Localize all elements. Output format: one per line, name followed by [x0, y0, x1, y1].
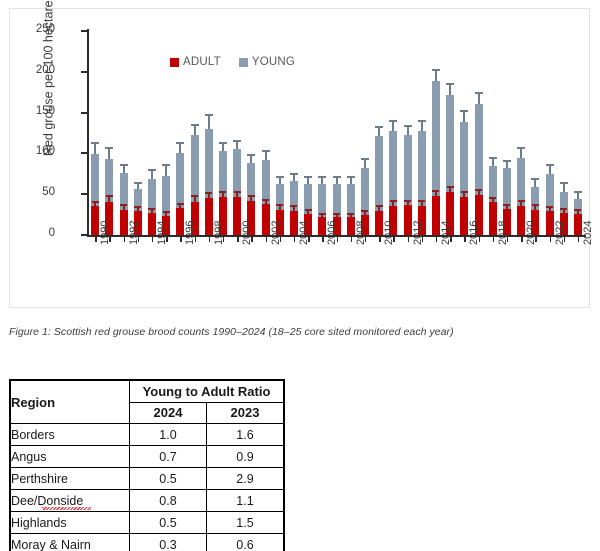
error-bar-total — [520, 149, 522, 158]
error-bar-adult — [364, 212, 366, 214]
error-bar-total — [350, 178, 352, 184]
error-bar-cap-adult — [532, 204, 539, 206]
error-bar-total — [435, 71, 437, 81]
error-bar-adult — [222, 193, 224, 197]
bar-segment-young — [375, 136, 383, 210]
y-tick — [81, 152, 88, 154]
bar-group — [105, 31, 113, 235]
error-bar-total — [336, 178, 338, 184]
error-bar-adult — [407, 202, 409, 205]
error-bar-cap-adult — [276, 204, 283, 206]
error-bar-total — [421, 122, 423, 130]
bar-segment-adult — [91, 206, 99, 235]
bar-segment-young — [361, 168, 369, 215]
error-bar-adult — [279, 206, 281, 209]
y-tick-label: 50 — [15, 187, 55, 199]
error-bar-cap-total — [276, 176, 284, 178]
y-tick — [81, 30, 88, 32]
y-tick-label: 0 — [15, 228, 55, 240]
x-tick — [251, 237, 253, 242]
error-bar-cap-adult — [134, 206, 141, 208]
bar-segment-young — [233, 149, 241, 197]
error-bar-adult — [250, 197, 252, 201]
x-tick — [578, 237, 580, 242]
cell-ratio-2024: 0.3 — [130, 534, 207, 551]
error-bar-cap-adult — [447, 186, 454, 188]
bar-group — [517, 31, 525, 235]
error-bar-adult — [336, 215, 338, 217]
x-tick — [95, 237, 97, 242]
error-bar-adult — [421, 202, 423, 205]
bar-segment-adult — [489, 202, 497, 235]
error-bar-adult — [194, 197, 196, 201]
bar-group — [176, 31, 184, 235]
x-tick — [237, 237, 239, 242]
bar-group — [475, 31, 483, 235]
bar-segment-adult — [432, 196, 440, 235]
error-bar-cap-total — [162, 164, 170, 166]
error-bar-cap-total — [247, 154, 255, 156]
bar-segment-adult — [574, 214, 582, 235]
error-bar-total — [407, 127, 409, 134]
error-bar-cap-total — [134, 182, 142, 184]
error-bar-total — [378, 128, 380, 136]
bar-group — [333, 31, 341, 235]
cell-ratio-2023: 0.6 — [207, 534, 285, 551]
x-tick — [138, 237, 140, 242]
x-tick — [308, 237, 310, 242]
x-axis-ticks: 1990199219941996199820002002200420062008… — [88, 237, 585, 307]
x-tick-label: 2024 — [582, 221, 594, 245]
y-tick-label: 100 — [15, 146, 55, 158]
bar-group — [304, 31, 312, 235]
error-bar-total — [137, 184, 139, 189]
error-bar-cap-total — [191, 124, 199, 126]
error-bar-total — [449, 85, 451, 96]
bar-group — [574, 31, 582, 235]
error-bar-total — [321, 178, 323, 184]
x-tick — [223, 237, 225, 242]
error-bar-cap-adult — [248, 195, 255, 197]
error-bar-adult — [236, 193, 238, 197]
cell-region: Angus — [10, 446, 130, 468]
error-bar-cap-adult — [376, 205, 383, 207]
bar-group — [191, 31, 199, 235]
error-bar-adult — [563, 210, 565, 213]
error-bar-cap-adult — [404, 200, 411, 202]
table-row: Dee/Donside0.81.1 — [10, 490, 284, 512]
bar-segment-young — [446, 95, 454, 191]
error-bar-cap-total — [205, 114, 213, 116]
error-bar-cap-adult — [106, 195, 113, 197]
error-bar-cap-total — [233, 140, 241, 142]
error-bar-cap-adult — [546, 206, 553, 208]
bar-group — [503, 31, 511, 235]
header-year-2023: 2023 — [207, 402, 285, 424]
error-bar-total — [492, 159, 494, 166]
bar-segment-young — [418, 131, 426, 206]
error-bar-cap-total — [560, 182, 568, 184]
error-bar-cap-total — [375, 126, 383, 128]
bar-segment-adult — [347, 217, 355, 235]
error-bar-total — [94, 144, 96, 154]
bar-segment-adult — [148, 213, 156, 235]
x-tick — [195, 237, 197, 242]
cell-ratio-2023: 2.9 — [207, 468, 285, 490]
bar-segment-young — [176, 153, 184, 208]
bar-segment-adult — [546, 211, 554, 235]
cell-ratio-2023: 1.5 — [207, 512, 285, 534]
error-bar-total — [179, 144, 181, 153]
error-bar-total — [165, 166, 167, 177]
bar-group — [262, 31, 270, 235]
bar-segment-young — [205, 129, 213, 198]
error-bar-cap-adult — [177, 203, 184, 205]
error-bar-cap-total — [418, 120, 426, 122]
error-bar-adult — [378, 207, 380, 210]
bar-segment-young — [91, 154, 99, 206]
bar-group — [531, 31, 539, 235]
error-bar-adult — [435, 192, 437, 196]
bar-group — [404, 31, 412, 235]
bar-group — [489, 31, 497, 235]
error-bar-cap-adult — [333, 213, 340, 215]
bar-segment-adult — [120, 210, 128, 235]
error-bar-cap-adult — [191, 195, 198, 197]
bar-segment-young — [404, 135, 412, 205]
bar-group — [276, 31, 284, 235]
error-bar-cap-total — [489, 157, 497, 159]
error-bar-cap-adult — [361, 210, 368, 212]
bar-segment-adult — [262, 204, 270, 235]
bar-group — [205, 31, 213, 235]
error-bar-adult — [478, 191, 480, 195]
bar-segment-young — [460, 122, 468, 198]
y-tick-label: 150 — [15, 106, 55, 118]
table-body: Borders1.01.6Angus0.70.9Perthshire0.52.9… — [10, 424, 284, 551]
error-bar-cap-adult — [560, 208, 567, 210]
x-tick — [266, 237, 268, 242]
error-bar-cap-adult — [489, 197, 496, 199]
bar-segment-adult — [375, 211, 383, 235]
bar-group — [233, 31, 241, 235]
cell-region: Dee/Donside — [10, 490, 130, 512]
error-bar-cap-total — [262, 150, 270, 152]
error-bar-adult — [208, 194, 210, 198]
error-bar-adult — [549, 208, 551, 211]
cell-ratio-2023: 1.1 — [207, 490, 285, 512]
cell-region: Moray & Nairn — [10, 534, 130, 551]
error-bar-total — [108, 149, 110, 159]
figure-caption: Figure 1: Scottish red grouse brood coun… — [9, 326, 589, 338]
error-bar-adult — [350, 215, 352, 217]
cell-ratio-2024: 1.0 — [130, 424, 207, 446]
error-bar-cap-adult — [475, 189, 482, 191]
table-row: Borders1.01.6 — [10, 424, 284, 446]
error-bar-adult — [506, 206, 508, 209]
bar-group — [460, 31, 468, 235]
bar-segment-young — [191, 135, 199, 201]
error-bar-adult — [492, 199, 494, 202]
error-bar-cap-adult — [148, 208, 155, 210]
table-header-row-1: Region Young to Adult Ratio — [10, 380, 284, 402]
error-bar-cap-total — [91, 142, 99, 144]
x-tick — [393, 237, 395, 242]
bar-group — [290, 31, 298, 235]
x-tick — [464, 237, 466, 242]
cell-region: Highlands — [10, 512, 130, 534]
error-bar-total — [123, 166, 125, 173]
error-bar-total — [265, 152, 267, 160]
y-tick — [81, 234, 88, 236]
error-bar-total — [293, 175, 295, 182]
bar-group — [219, 31, 227, 235]
bar-group — [247, 31, 255, 235]
plot-area — [88, 31, 585, 235]
x-tick — [209, 237, 211, 242]
cell-ratio-2024: 0.5 — [130, 468, 207, 490]
error-bar-adult — [137, 208, 139, 211]
cell-region: Perthshire — [10, 468, 130, 490]
figure-page: Red grouse per 100 hectares (+1s.e.) 050… — [0, 0, 600, 551]
x-tick — [180, 237, 182, 242]
error-bar-cap-adult — [574, 209, 581, 211]
error-bar-cap-total — [361, 158, 369, 160]
bar-group — [446, 31, 454, 235]
bar-segment-young — [475, 104, 483, 195]
error-bar-cap-total — [574, 191, 582, 193]
error-bar-total — [194, 126, 196, 136]
error-bar-total — [364, 160, 366, 168]
table-header: Region Young to Adult Ratio 2024 2023 — [10, 380, 284, 424]
error-bar-total — [392, 122, 394, 130]
x-tick — [450, 237, 452, 242]
error-bar-adult — [392, 202, 394, 205]
error-bar-cap-adult — [120, 204, 127, 206]
error-bar-cap-total — [404, 125, 412, 127]
error-bar-adult — [463, 193, 465, 197]
error-bar-cap-adult — [234, 191, 241, 193]
error-bar-total — [549, 166, 551, 173]
error-bar-adult — [165, 213, 167, 216]
error-bar-total — [506, 162, 508, 168]
error-bar-cap-total — [460, 110, 468, 112]
x-tick — [280, 237, 282, 242]
error-bar-adult — [123, 206, 125, 209]
x-tick — [109, 237, 111, 242]
ratio-table: Region Young to Adult Ratio 2024 2023 Bo… — [9, 379, 285, 551]
bar-group — [120, 31, 128, 235]
x-tick — [365, 237, 367, 242]
error-bar-adult — [94, 203, 96, 206]
x-tick — [379, 237, 381, 242]
error-bar-adult — [108, 197, 110, 201]
cell-region: Borders — [10, 424, 130, 446]
x-tick — [535, 237, 537, 242]
table-row: Angus0.70.9 — [10, 446, 284, 468]
error-bar-cap-total — [290, 173, 298, 175]
cell-ratio-2024: 0.7 — [130, 446, 207, 468]
x-tick — [124, 237, 126, 242]
error-bar-cap-adult — [503, 204, 510, 206]
error-bar-cap-adult — [305, 209, 312, 211]
bar-segment-adult — [404, 205, 412, 235]
error-bar-total — [534, 180, 536, 187]
bar-group — [91, 31, 99, 235]
x-tick — [564, 237, 566, 242]
error-bar-total — [478, 94, 480, 105]
bar-group — [560, 31, 568, 235]
y-tick-label: 200 — [15, 65, 55, 77]
error-bar-adult — [449, 188, 451, 192]
x-tick — [521, 237, 523, 242]
error-bar-cap-adult — [92, 201, 99, 203]
x-tick — [479, 237, 481, 242]
bar-segment-young — [389, 131, 397, 206]
error-bar-total — [236, 142, 238, 149]
bar-segment-young — [517, 158, 525, 205]
bar-group — [162, 31, 170, 235]
x-tick — [294, 237, 296, 242]
error-bar-adult — [520, 202, 522, 205]
error-bar-cap-total — [475, 92, 483, 94]
error-bar-total — [222, 144, 224, 151]
error-bar-total — [250, 156, 252, 163]
error-bar-cap-total — [219, 142, 227, 144]
error-bar-adult — [577, 211, 579, 214]
x-tick — [436, 237, 438, 242]
error-bar-cap-total — [531, 178, 539, 180]
bar-group — [432, 31, 440, 235]
cell-ratio-2024: 0.5 — [130, 512, 207, 534]
error-bar-cap-adult — [418, 200, 425, 202]
error-bar-cap-adult — [390, 200, 397, 202]
error-bar-adult — [179, 205, 181, 208]
error-bar-cap-adult — [461, 191, 468, 193]
y-tick — [81, 71, 88, 73]
error-bar-total — [208, 116, 210, 129]
error-bar-cap-adult — [205, 192, 212, 194]
error-bar-cap-total — [546, 164, 554, 166]
x-tick — [322, 237, 324, 242]
error-bar-cap-total — [105, 147, 113, 149]
error-bar-adult — [293, 207, 295, 210]
chart-container: Red grouse per 100 hectares (+1s.e.) 050… — [9, 8, 590, 308]
header-year-2024: 2024 — [130, 402, 207, 424]
error-bar-cap-adult — [290, 205, 297, 207]
error-bar-adult — [265, 201, 267, 204]
x-tick — [166, 237, 168, 242]
bar-group — [418, 31, 426, 235]
error-bar-total — [151, 171, 153, 178]
error-bar-cap-adult — [432, 190, 439, 192]
y-tick — [81, 112, 88, 114]
error-bar-total — [307, 178, 309, 184]
error-bar-cap-total — [389, 120, 397, 122]
error-bar-adult — [307, 211, 309, 213]
bar-segment-young — [262, 160, 270, 204]
y-tick-label: 250 — [15, 24, 55, 36]
error-bar-cap-total — [304, 176, 312, 178]
error-bar-cap-adult — [219, 191, 226, 193]
error-bar-cap-total — [432, 69, 440, 71]
bar-segment-adult — [290, 211, 298, 235]
table-row: Moray & Nairn0.30.6 — [10, 534, 284, 551]
bar-segment-adult — [205, 198, 213, 235]
bar-group — [546, 31, 554, 235]
x-tick — [550, 237, 552, 242]
error-bar-cap-adult — [347, 213, 354, 215]
error-bar-cap-adult — [319, 213, 326, 215]
error-bar-total — [463, 112, 465, 122]
header-region: Region — [10, 380, 130, 424]
x-tick — [408, 237, 410, 242]
x-tick — [337, 237, 339, 242]
table-row: Highlands0.51.5 — [10, 512, 284, 534]
bar-group — [318, 31, 326, 235]
y-tick — [81, 193, 88, 195]
error-bar-cap-total — [120, 164, 128, 166]
x-tick — [152, 237, 154, 242]
table-row: Perthshire0.52.9 — [10, 468, 284, 490]
bar-group — [389, 31, 397, 235]
error-bar-cap-adult — [262, 199, 269, 201]
x-tick — [351, 237, 353, 242]
header-ratio: Young to Adult Ratio — [130, 380, 285, 402]
error-bar-cap-total — [446, 83, 454, 85]
bar-group — [375, 31, 383, 235]
x-tick — [507, 237, 509, 242]
error-bar-cap-total — [318, 176, 326, 178]
bar-group — [134, 31, 142, 235]
error-bar-cap-total — [176, 142, 184, 144]
spellcheck-underline — [42, 507, 91, 510]
error-bar-total — [563, 184, 565, 191]
x-tick — [493, 237, 495, 242]
error-bar-cap-total — [503, 160, 511, 162]
error-bar-cap-total — [148, 169, 156, 171]
error-bar-adult — [321, 215, 323, 217]
x-tick — [422, 237, 424, 242]
bar-segment-young — [432, 81, 440, 196]
error-bar-adult — [534, 206, 536, 209]
cell-ratio-2023: 1.6 — [207, 424, 285, 446]
bar-segment-adult — [517, 206, 525, 235]
error-bar-cap-total — [333, 176, 341, 178]
error-bar-cap-total — [347, 176, 355, 178]
error-bar-adult — [151, 210, 153, 213]
error-bar-total — [577, 193, 579, 199]
error-bar-total — [279, 178, 281, 185]
error-bar-cap-adult — [518, 200, 525, 202]
cell-ratio-2023: 0.9 — [207, 446, 285, 468]
bar-group — [361, 31, 369, 235]
bar-group — [148, 31, 156, 235]
error-bar-cap-adult — [163, 211, 170, 213]
error-bar-cap-total — [517, 147, 525, 149]
bar-segment-adult — [233, 197, 241, 235]
bar-group — [347, 31, 355, 235]
cell-ratio-2024: 0.8 — [130, 490, 207, 512]
